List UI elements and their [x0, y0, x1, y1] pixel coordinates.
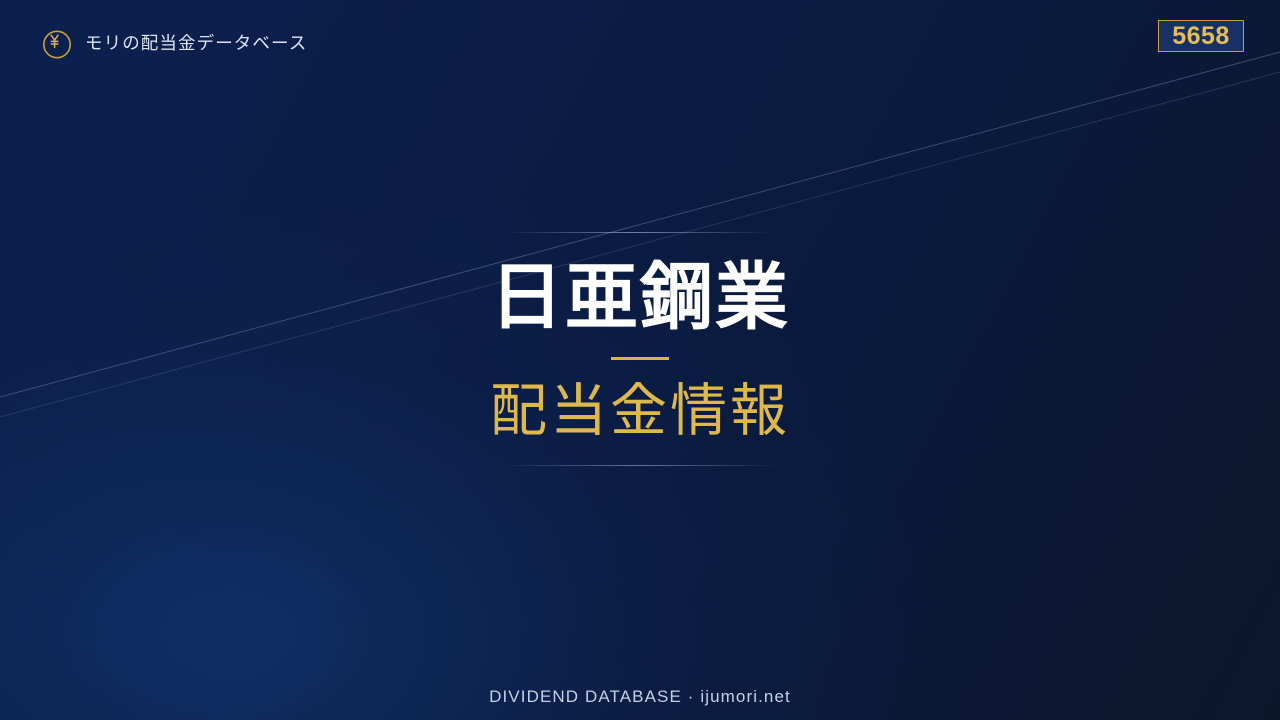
title-block: 日亜鋼業 配当金情報	[0, 232, 1280, 466]
brand-name: モリの配当金データベース	[85, 35, 307, 53]
yen-circle-icon	[40, 28, 72, 60]
title-slide: モリの配当金データベース 5658 日亜鋼業 配当金情報 DIVIDEND DA…	[0, 0, 1280, 720]
divider-bottom	[499, 465, 781, 466]
company-name: 日亜鋼業	[0, 259, 1280, 336]
divider-gold	[611, 357, 669, 360]
footer-text: DIVIDEND DATABASE · ijumori.net	[0, 687, 1280, 707]
page-header: モリの配当金データベース 5658	[0, 0, 1280, 90]
brand[interactable]: モリの配当金データベース	[40, 28, 307, 60]
ticker-badge[interactable]: 5658	[1158, 20, 1244, 52]
divider-top	[506, 232, 774, 233]
page-subtitle: 配当金情報	[0, 380, 1280, 443]
